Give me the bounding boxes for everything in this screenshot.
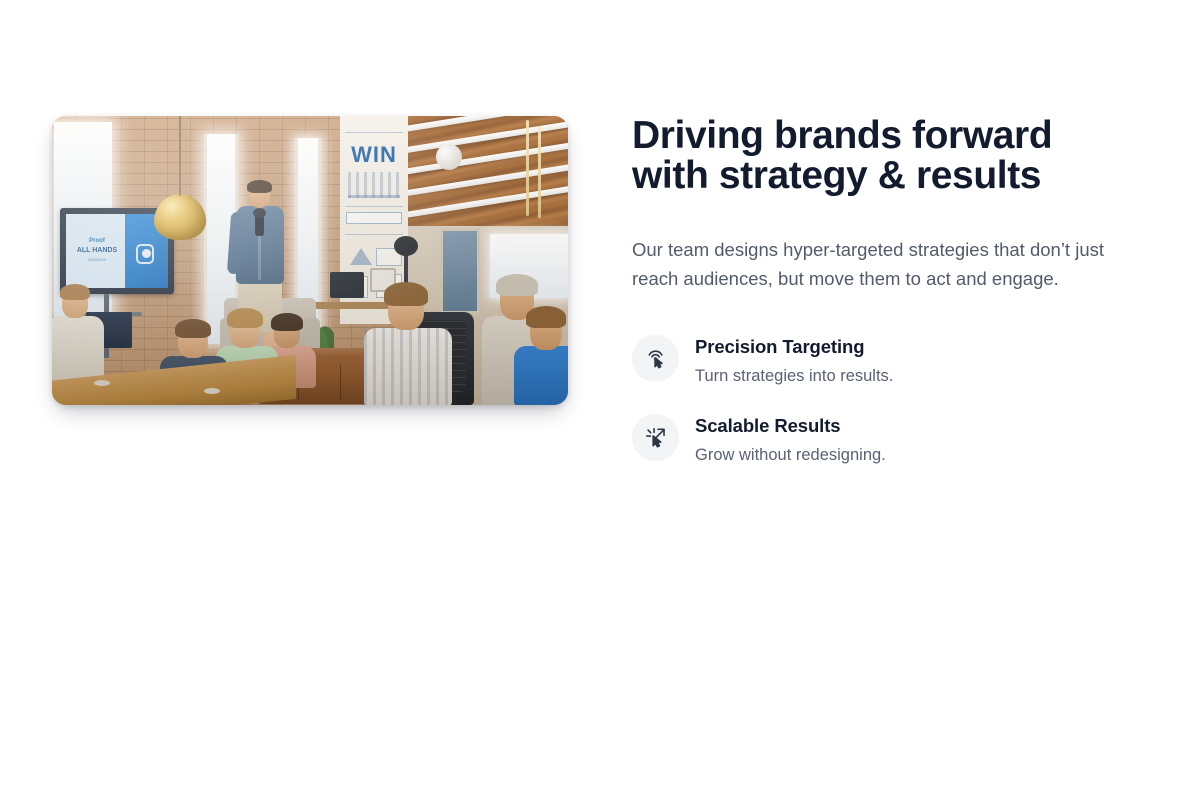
slide-line-3: 4/24/2019 — [76, 257, 118, 262]
office-meeting-photo: WIN Proof ALL HANDS — [52, 116, 568, 405]
mural-win-text: WIN — [351, 142, 397, 168]
presenter-hair — [247, 180, 272, 193]
headline-line-1: Driving brands forward — [632, 116, 1152, 156]
hero-subcopy: Our team designs hyper-targeted strategi… — [632, 235, 1150, 293]
globe-pendant-light — [436, 144, 462, 170]
string-lights — [538, 126, 541, 218]
tv-screen: Proof ALL HANDS 4/24/2019 — [66, 214, 168, 288]
mural-skyline — [348, 172, 400, 198]
string-lights — [526, 120, 529, 216]
microphone — [255, 214, 264, 236]
feature-description: Grow without redesigning. — [695, 445, 886, 466]
feature-description: Turn strategies into results. — [695, 366, 893, 387]
hero-content-column: Driving brands forward with strategy & r… — [632, 116, 1152, 466]
audience-member-hair — [526, 306, 566, 328]
feature-text-block: Precision Targeting Turn strategies into… — [695, 333, 893, 387]
hero-section: WIN Proof ALL HANDS — [0, 0, 1200, 800]
feature-title: Precision Targeting — [695, 336, 893, 358]
table-puck — [204, 388, 220, 394]
wood-beam-ceiling — [392, 116, 568, 234]
audience-member-hair — [271, 313, 303, 331]
hero-media-column: WIN Proof ALL HANDS — [52, 116, 568, 405]
audience-member-hair — [496, 274, 538, 296]
slide-logo — [136, 244, 154, 264]
audience-member-hair — [175, 319, 211, 338]
growth-arrow-cursor-icon — [632, 414, 679, 461]
mural-triangle — [350, 248, 372, 265]
mural-banner — [346, 212, 402, 224]
background-door — [440, 228, 480, 314]
slide-line-1: Proof — [76, 238, 118, 244]
feature-item-precision-targeting: Precision Targeting Turn strategies into… — [632, 333, 1152, 387]
audience-member-hair — [227, 308, 263, 328]
slide-line-2: ALL HANDS — [72, 247, 122, 254]
background-monitor — [330, 272, 364, 298]
cursor-tap-icon — [632, 335, 679, 382]
audience-member-shirt-stripes — [364, 328, 452, 405]
audience-member-hair — [384, 282, 428, 306]
hero-image-frame: WIN Proof ALL HANDS — [52, 116, 568, 405]
feature-text-block: Scalable Results Grow without redesignin… — [695, 412, 886, 466]
feature-title: Scalable Results — [695, 415, 886, 437]
page-title: Driving brands forward with strategy & r… — [632, 116, 1152, 196]
gold-pendant-lamp — [154, 194, 206, 240]
feature-list: Precision Targeting Turn strategies into… — [632, 333, 1152, 466]
table-puck — [94, 380, 110, 386]
audience-member-body — [514, 346, 568, 405]
feature-item-scalable-results: Scalable Results Grow without redesignin… — [632, 412, 1152, 466]
headline-line-2: with strategy & results — [632, 156, 1152, 196]
audience-member-hair — [60, 284, 90, 300]
